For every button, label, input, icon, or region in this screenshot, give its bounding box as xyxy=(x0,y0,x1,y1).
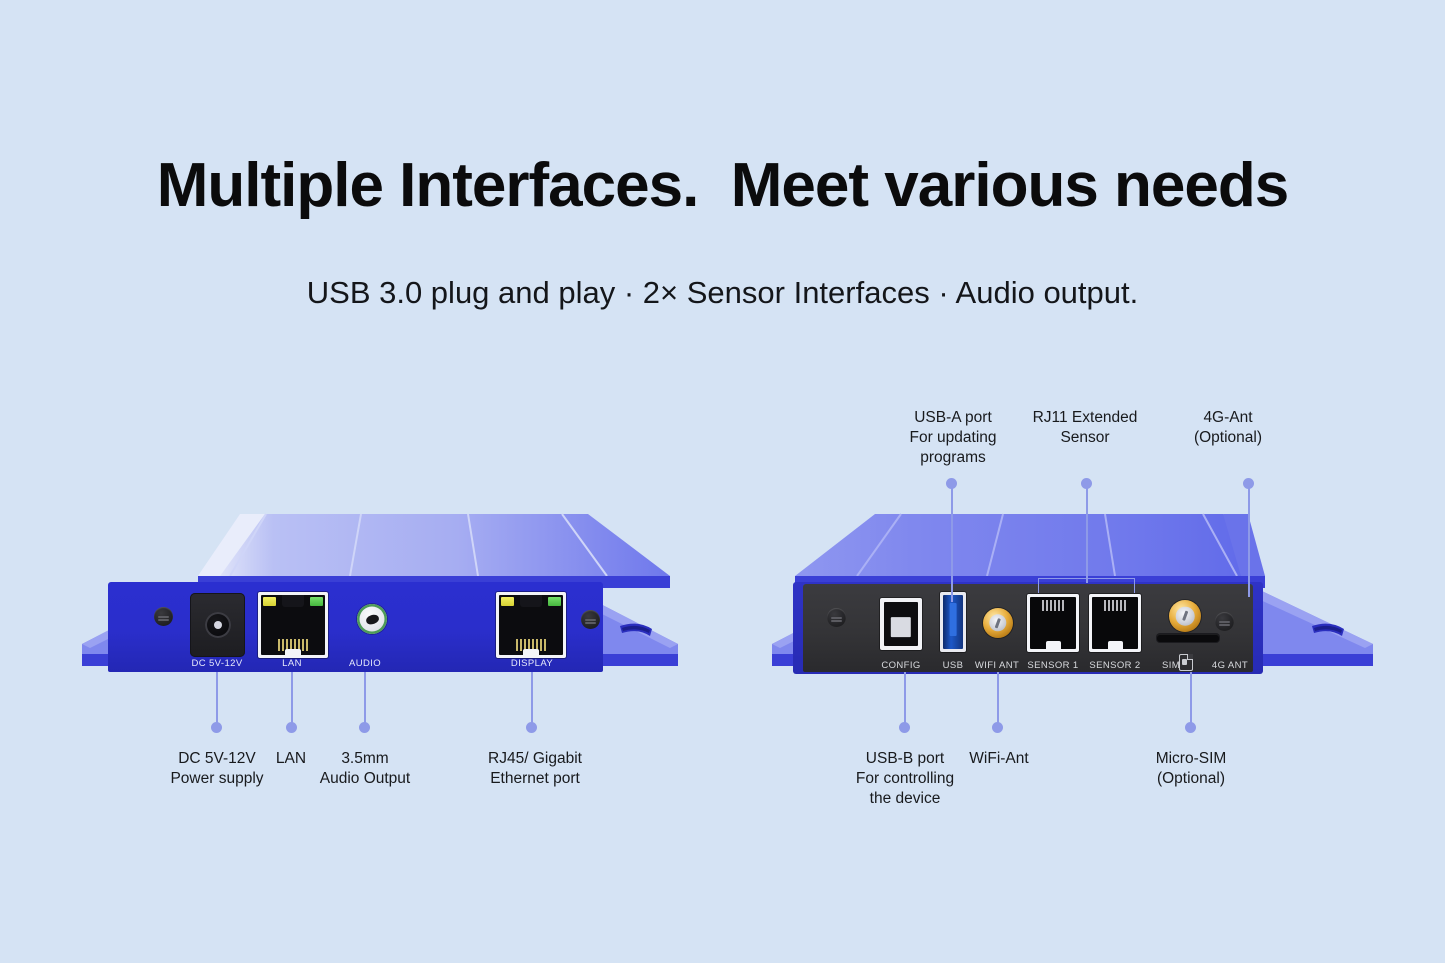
wifi-antenna-sma-connector[interactable] xyxy=(983,608,1013,638)
callout-rj11-sensor: RJ11 Extended Sensor xyxy=(1010,408,1160,448)
leader-dot-usb-b xyxy=(899,722,910,733)
port-label-lan: LAN xyxy=(282,658,302,669)
lan-rj45-port[interactable] xyxy=(258,592,328,658)
port-label-sim: SIM xyxy=(1162,660,1180,671)
lan-latch-tab xyxy=(282,595,304,607)
4g-antenna-sma-connector[interactable] xyxy=(1169,600,1201,632)
left-faceplate-screw-right xyxy=(581,610,600,629)
infographic-canvas: Multiple Interfaces. Meet various needs … xyxy=(0,0,1445,963)
callout-micro-sim: Micro-SIM (Optional) xyxy=(1130,749,1252,789)
leader-dot-dc xyxy=(211,722,222,733)
port-label-dc: DC 5V-12V xyxy=(191,658,242,669)
leader-line-4g-ant xyxy=(1248,487,1250,597)
sensor-2-rj11-port[interactable] xyxy=(1089,594,1141,652)
callout-display: RJ45/ Gigabit Ethernet port xyxy=(462,749,608,789)
lan-led-green xyxy=(310,597,323,606)
dc-jack-barrel xyxy=(205,612,231,638)
config-usb-b-port[interactable] xyxy=(880,598,922,650)
leader-line-micro-sim xyxy=(1190,672,1192,724)
port-label-usb: USB xyxy=(943,660,964,671)
leader-dot-display xyxy=(526,722,537,733)
leader-dot-audio xyxy=(359,722,370,733)
port-label-4g-ant: 4G ANT xyxy=(1212,660,1248,671)
sensor-2-pins xyxy=(1104,600,1126,611)
leader-dot-micro-sim xyxy=(1185,722,1196,733)
callout-usb-a: USB-A port For updating programs xyxy=(880,408,1026,468)
leader-line-dc xyxy=(216,672,218,724)
lan-led-yellow xyxy=(263,597,276,606)
leader-line-lan xyxy=(291,672,293,724)
leader-dot-lan xyxy=(286,722,297,733)
dc-power-jack-port[interactable] xyxy=(190,593,245,657)
sensor-ports-bracket xyxy=(1038,578,1135,593)
port-label-sensor-1: SENSOR 1 xyxy=(1027,660,1078,671)
usb-a-tongue xyxy=(950,603,957,636)
micro-sim-card-slot[interactable] xyxy=(1157,634,1219,642)
display-led-green xyxy=(548,597,561,606)
leader-dot-wifi-ant xyxy=(992,722,1003,733)
leader-dot-usb-a xyxy=(946,478,957,489)
audio-35mm-jack-port[interactable] xyxy=(357,604,387,634)
dc-jack-pin xyxy=(214,621,222,629)
port-label-audio: AUDIO xyxy=(349,658,381,669)
leader-line-audio xyxy=(364,672,366,724)
page-headline: Multiple Interfaces. Meet various needs xyxy=(0,150,1445,221)
port-label-sensor-2: SENSOR 2 xyxy=(1089,660,1140,671)
port-label-wifi-ant: WIFI ANT xyxy=(975,660,1019,671)
display-led-yellow xyxy=(501,597,514,606)
leader-dot-4g-ant xyxy=(1243,478,1254,489)
leader-line-usb-a xyxy=(951,487,953,602)
leader-line-wifi-ant xyxy=(997,672,999,724)
display-rj45-port[interactable] xyxy=(496,592,566,658)
port-label-config: CONFIG xyxy=(881,660,920,671)
right-faceplate-screw-left xyxy=(827,608,846,627)
callout-4g-ant: 4G-Ant (Optional) xyxy=(1168,408,1288,448)
page-subtitle: USB 3.0 plug and play · 2× Sensor Interf… xyxy=(0,275,1445,311)
left-device-top-lid xyxy=(80,500,680,595)
audio-jack-hole xyxy=(365,613,380,626)
sensor-1-rj11-port[interactable] xyxy=(1027,594,1079,652)
left-faceplate-screw-left xyxy=(154,607,173,626)
leader-line-sensor xyxy=(1086,487,1088,583)
leader-line-display xyxy=(531,672,533,724)
sensor-1-pins xyxy=(1042,600,1064,611)
usb-a-30-port[interactable] xyxy=(940,592,966,652)
display-latch-tab xyxy=(520,595,542,607)
sim-card-icon xyxy=(1179,654,1193,671)
leader-dot-sensor xyxy=(1081,478,1092,489)
usb-b-tongue xyxy=(891,617,911,637)
callout-audio: 3.5mm Audio Output xyxy=(294,749,436,789)
callout-wifi-ant: WiFi-Ant xyxy=(953,749,1045,769)
left-device-front-panel: DC 5V-12V LAN AUDIO DISPLAY xyxy=(80,500,680,685)
right-faceplate-screw-right xyxy=(1215,612,1234,631)
port-label-display: DISPLAY xyxy=(511,658,553,669)
leader-line-usb-b xyxy=(904,672,906,724)
